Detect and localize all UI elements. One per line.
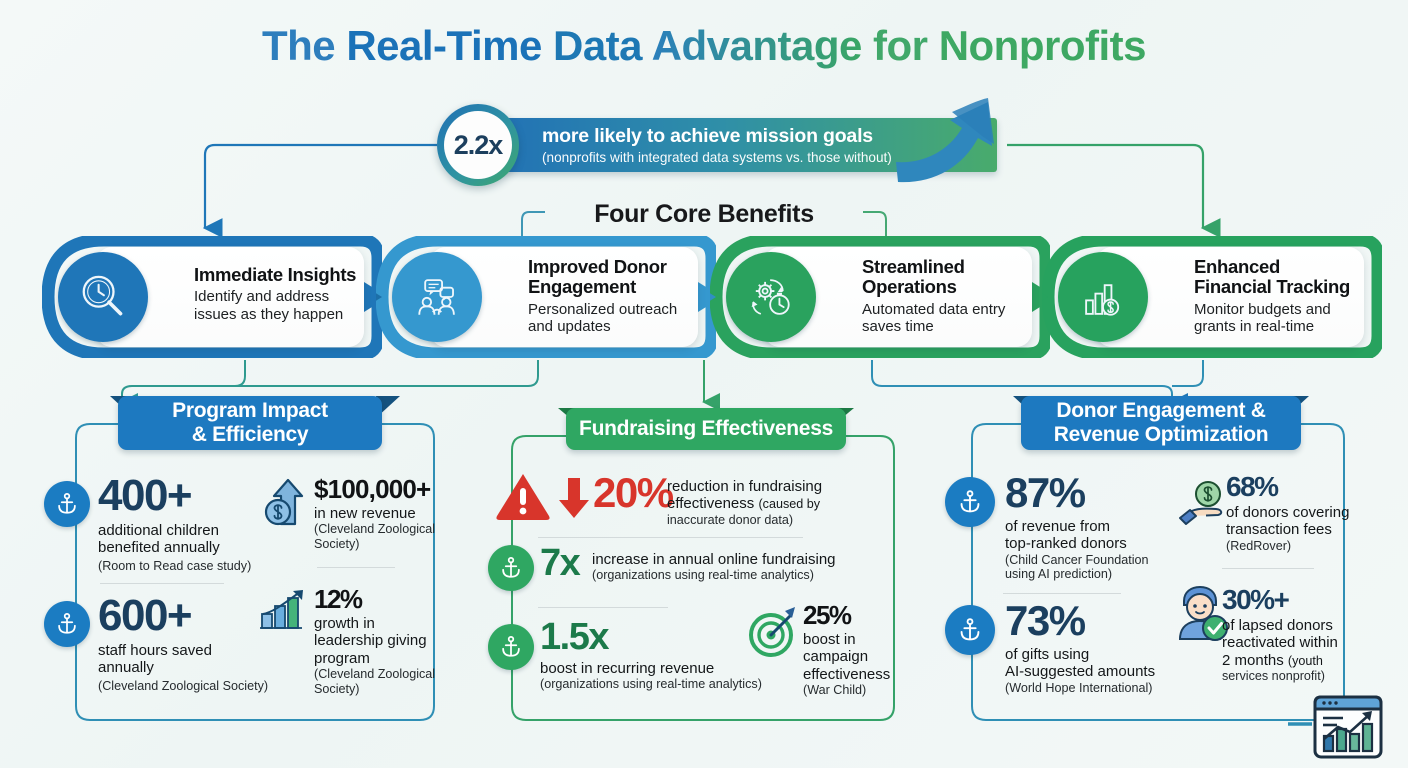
stat-30-percent-plus: 30%+ of lapsed donors reactivated within…: [1222, 586, 1392, 684]
stat-value: 20%: [593, 472, 673, 514]
anchor-icon: [945, 477, 995, 527]
stat-source: (Room to Read case study): [98, 559, 298, 573]
stat-source: (Cleveland Zoological Society): [98, 679, 308, 693]
panel-title-donor-engagement: Donor Engagement & Revenue Optimization: [1021, 396, 1301, 450]
stat-label-l2: effectiveness: [667, 495, 754, 512]
stat-20-percent-label: reduction in fundraising effectiveness (…: [667, 478, 847, 527]
stat-source-l1: (Cleveland Zoological: [314, 522, 446, 536]
benefit-title-4-line2: Financial Tracking: [1194, 277, 1379, 297]
stat-source: (World Hope International): [1005, 681, 1205, 695]
stat-source-l1: (Child Cancer Foundation: [1005, 553, 1175, 567]
stat-label-l4: services nonprofit): [1222, 669, 1392, 683]
stat-source: (organizations using real-time analytics…: [540, 677, 780, 691]
benefit-card-enhanced-financial-tracking[interactable]: Enhanced Financial Tracking Monitor budg…: [1044, 238, 1374, 356]
stat-source-l2: Society): [314, 682, 448, 696]
stat-value: 1.5x: [540, 618, 780, 656]
panel-title-fundraising: Fundraising Effectiveness: [566, 408, 846, 450]
title-word-for: for: [862, 22, 939, 69]
benefit-sub-3-line1: Automated data entry: [862, 301, 1042, 319]
benefit-sub-2-line1: Personalized outreach: [528, 301, 708, 319]
benefit-title-3-line1: Streamlined: [862, 257, 1042, 277]
panel-title-3-line1: Donor Engagement &: [1056, 399, 1265, 423]
stat-label-l1: boost in recurring revenue: [540, 660, 780, 677]
stat-label-l1: of gifts using: [1005, 646, 1205, 663]
benefit-sub-1-line1: Identify and address: [194, 288, 369, 306]
stat-label-l1: of lapsed donors: [1222, 617, 1392, 634]
benefit-card-immediate-insights[interactable]: Immediate Insights Identify and address …: [44, 238, 374, 356]
stat-value: 87%: [1005, 472, 1175, 514]
benefit-title-3-line2: Operations: [862, 277, 1042, 297]
stat-value: 68%: [1226, 473, 1386, 501]
warning-triangle-icon: [495, 470, 553, 522]
stat-divider: [538, 607, 668, 608]
stat-7x-label: increase in annual online fundraising (o…: [592, 551, 902, 583]
stat-label-l2: benefited annually: [98, 539, 298, 556]
stat-label-l3-wrap: 2 months (youth: [1222, 652, 1392, 669]
stat-source: (War Child): [803, 683, 901, 697]
benefit-title-1: Immediate Insights: [194, 265, 369, 285]
hero-text: more likely to achieve mission goals (no…: [542, 126, 962, 166]
stat-100000-plus: $100,000+ in new revenue (Cleveland Zool…: [314, 476, 446, 551]
benefit-card-streamlined-operations[interactable]: Streamlined Operations Automated data en…: [712, 238, 1042, 356]
hero-badge: 2.2x: [437, 104, 519, 186]
stat-source-l2: using AI prediction): [1005, 567, 1175, 581]
stat-divider: [1222, 568, 1314, 569]
stat-1-5x: 1.5x boost in recurring revenue (organiz…: [540, 618, 780, 692]
stat-value: 12%: [314, 586, 448, 612]
stat-divider: [317, 567, 395, 568]
anchor-icon: [488, 624, 534, 670]
stat-7x-value: 7x: [540, 544, 579, 582]
infographic-canvas: The Real-Time Data Advantage for Nonprof…: [0, 0, 1408, 768]
hero-badge-value: 2.2x: [444, 111, 512, 179]
anchor-icon: [44, 601, 90, 647]
stat-label-inline: (youth: [1288, 654, 1323, 668]
hero-headline: more likely to achieve mission goals: [542, 126, 962, 147]
benefit-title-2-line2: Engagement: [528, 277, 708, 297]
down-arrow-icon: [557, 476, 591, 520]
stat-label-l2-wrap: effectiveness (caused by: [667, 495, 847, 512]
section-heading: Four Core Benefits: [0, 200, 1408, 229]
anchor-icon: [945, 605, 995, 655]
benefit-sub-4-line2: grants in real-time: [1194, 318, 1379, 336]
panel-title-3-line2: Revenue Optimization: [1054, 423, 1269, 447]
stat-label-l1: boost in: [803, 631, 901, 648]
hero-stat-banner: 2.2x more likely to achieve mission goal…: [437, 104, 1007, 186]
stat-label-l1: reduction in fundraising: [667, 478, 847, 495]
stat-label-l1: staff hours saved: [98, 642, 308, 659]
title-word-the: The: [262, 22, 346, 69]
panel-title-2-line1: Fundraising Effectiveness: [579, 417, 833, 441]
benefit-title-2-line1: Improved Donor: [528, 257, 708, 277]
stat-label-l1: of revenue from: [1005, 518, 1175, 535]
stat-label-l3: effectiveness: [803, 666, 901, 683]
benefit-card-improved-donor-engagement[interactable]: Improved Donor Engagement Personalized o…: [378, 238, 708, 356]
stat-25-percent: 25% boost in campaign effectiveness (War…: [803, 602, 901, 698]
stat-label-l1: increase in annual online fundraising: [592, 551, 902, 568]
growth-bar-chart-icon: [258, 586, 312, 634]
stat-divider: [100, 583, 224, 584]
stat-label-l1: in new revenue: [314, 505, 446, 522]
stat-label-l2: top-ranked donors: [1005, 535, 1175, 552]
stat-68-percent: 68% of donors covering transaction fees …: [1226, 473, 1386, 553]
stat-divider: [538, 537, 803, 538]
stat-label-inline: (caused by: [758, 497, 820, 511]
benefit-sub-1-line2: issues as they happen: [194, 306, 369, 324]
panel-title-1-line1: Program Impact: [172, 399, 328, 423]
bar-chart-dollar-icon: [1058, 252, 1148, 342]
stat-label-l1: of donors covering: [1226, 504, 1386, 521]
stat-value: 30%+: [1222, 586, 1392, 614]
stat-value: $100,000+: [314, 476, 446, 502]
benefit-sub-4-line1: Monitor budgets and: [1194, 301, 1379, 319]
stat-label-l1: growth in: [314, 615, 448, 632]
dollar-up-arrow-icon: [262, 474, 312, 532]
panel-title-program-impact: Program Impact & Efficiency: [118, 396, 382, 450]
benefit-title-4-line1: Enhanced: [1194, 257, 1379, 277]
stat-label-l2: leadership giving: [314, 632, 448, 649]
stat-divider: [1003, 593, 1121, 594]
stat-12-percent: 12% growth in leadership giving program …: [314, 586, 448, 696]
stat-source-l2: Society): [314, 537, 446, 551]
stat-label-l3: inaccurate donor data): [667, 513, 847, 527]
panel-title-1-line2: & Efficiency: [192, 423, 309, 447]
stat-label-l3: 2 months: [1222, 652, 1284, 669]
stat-source-l1: (Cleveland Zoological: [314, 667, 448, 681]
benefit-sub-3-line2: saves time: [862, 318, 1042, 336]
page-title: The Real-Time Data Advantage for Nonprof…: [0, 22, 1408, 70]
gear-stopwatch-icon: [726, 252, 816, 342]
hero-subline: (nonprofits with integrated data systems…: [542, 150, 962, 166]
stat-label-l2: AI-suggested amounts: [1005, 663, 1205, 680]
title-word-real-time: Real-Time: [346, 22, 553, 69]
title-word-advantage: Advantage: [652, 22, 862, 69]
anchor-icon: [44, 481, 90, 527]
stat-87-percent: 87% of revenue from top-ranked donors (C…: [1005, 472, 1175, 581]
people-chat-icon: [392, 252, 482, 342]
stat-source: (RedRover): [1226, 539, 1386, 553]
magnifier-clock-icon: [58, 252, 148, 342]
stat-value: 25%: [803, 602, 901, 628]
dashboard-chart-icon: [1312, 694, 1384, 760]
stat-source: (organizations using real-time analytics…: [592, 568, 902, 582]
anchor-icon: [488, 545, 534, 591]
benefit-sub-2-line2: and updates: [528, 318, 708, 336]
title-word-data: Data: [553, 22, 652, 69]
title-word-nonprofits: Nonprofits: [939, 22, 1146, 69]
target-dart-icon: [745, 605, 801, 661]
stat-label-l2: transaction fees: [1226, 521, 1386, 538]
stat-label-l2: campaign: [803, 648, 901, 665]
stat-value: 7x: [540, 544, 579, 582]
stat-label-l2: annually: [98, 659, 308, 676]
stat-label-l2: reactivated within: [1222, 634, 1392, 651]
stat-20-percent-value: 20%: [593, 472, 673, 514]
stat-label-l3: program: [314, 650, 448, 667]
